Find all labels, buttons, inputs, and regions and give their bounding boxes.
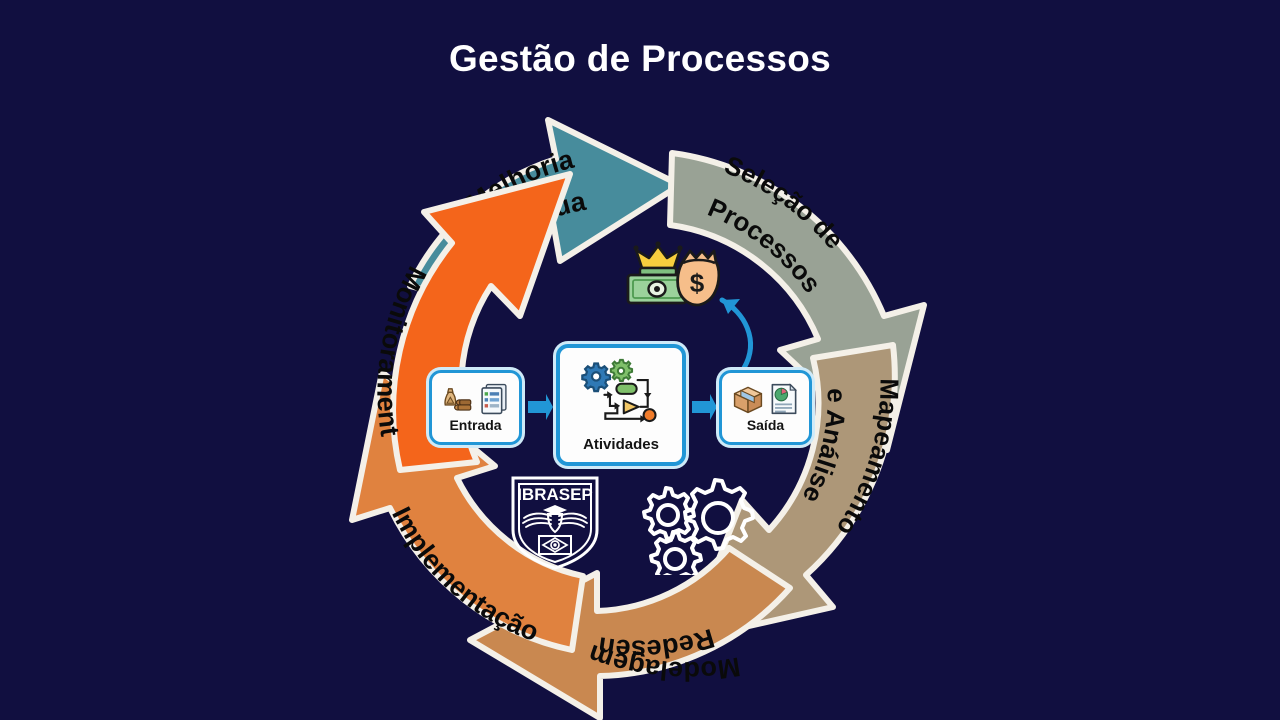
arrow-entrada-to-atividades — [528, 394, 553, 420]
saida-icons — [731, 382, 800, 416]
process-box-saida-label: Saída — [747, 417, 784, 433]
sack-and-logs-icon — [441, 382, 475, 416]
slide-canvas: Gestão de Processos Melhoria Contínua — [0, 0, 1280, 720]
process-box-atividades-label: Atividades — [583, 436, 659, 453]
process-box-saida[interactable]: Saída — [719, 370, 812, 445]
process-box-atividades[interactable]: Atividades — [556, 344, 686, 466]
arrow-atividades-to-saida — [692, 394, 717, 420]
checklist-document-icon — [478, 382, 510, 416]
gears-flowchart-icon — [579, 358, 663, 428]
package-box-icon — [731, 382, 765, 416]
pie-chart-report-icon — [768, 382, 800, 416]
entrada-icons — [441, 382, 510, 416]
process-box-entrada[interactable]: Entrada — [429, 370, 522, 445]
ibrasep-logo-text: IBRASEP — [517, 485, 593, 504]
process-box-entrada-label: Entrada — [449, 417, 501, 433]
ibrasep-shield-logo: IBRASEP — [505, 472, 605, 572]
gears-outline-icon — [625, 470, 755, 575]
